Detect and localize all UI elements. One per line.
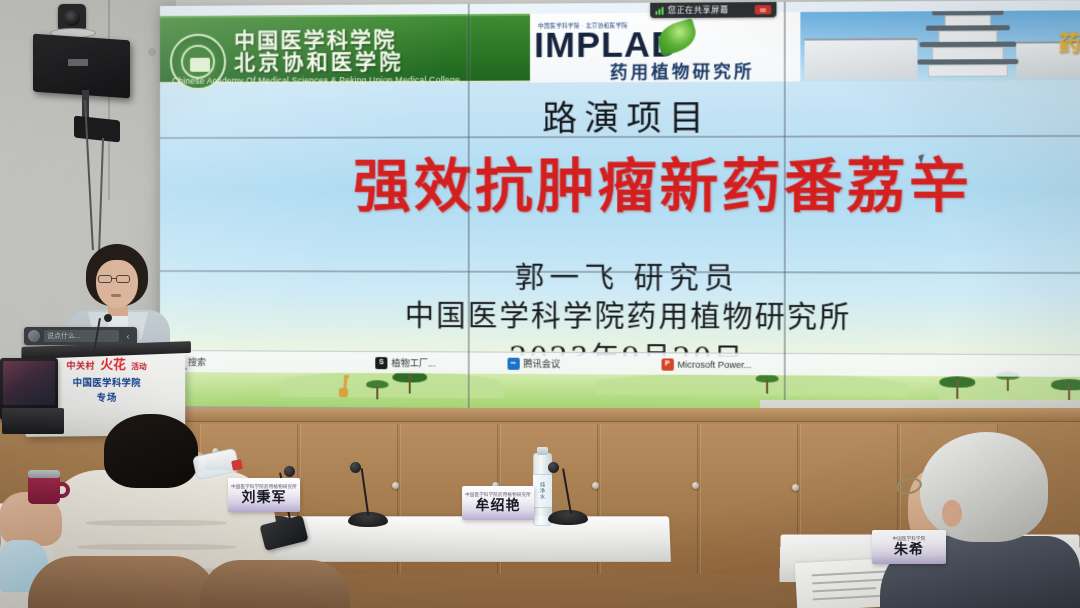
bottle-label: 纯净水: [533, 474, 552, 508]
podium-sign-prefix: 中关村: [66, 361, 94, 371]
screen-share-indicator[interactable]: 您正在共享屏幕: [650, 2, 776, 18]
signal-icon: [655, 6, 663, 14]
microphone-head: [284, 466, 295, 477]
podium-sign-suffix: 活动: [131, 362, 147, 371]
slide-title: 强效抗肿瘤新药番荔辛: [184, 139, 1080, 224]
slide-subtitle: 路演项目: [160, 88, 1080, 141]
leather-chair: [28, 556, 218, 608]
nameplate: 中国医学科学院 朱希: [872, 530, 946, 564]
slide-header-band: 中国医学科学院 北京协和医学院 Chinese Academy Of Medic…: [160, 14, 530, 84]
nameplate-name: 牟绍艳: [476, 498, 521, 514]
chat-input[interactable]: 说点什么...: [44, 330, 119, 342]
bottle-cap: [231, 459, 243, 471]
institution-line1: 中国医学科学院: [234, 28, 524, 52]
bottle-cap: [537, 447, 548, 455]
presenter-face: [96, 260, 138, 308]
powerpoint-slide: 中国医学科学院 北京协和医学院 Chinese Academy Of Medic…: [160, 0, 1080, 412]
microphone-head: [548, 462, 559, 473]
microphone-head: [350, 462, 361, 473]
cabinet-knob[interactable]: [692, 482, 699, 489]
display-bezel: [784, 2, 786, 410]
avatar: [28, 330, 40, 342]
taskbar-item-powerpoint[interactable]: P Microsoft Power...: [652, 354, 761, 375]
institution-line2: 北京协和医学院: [234, 50, 524, 74]
sogou-icon: S: [375, 357, 387, 369]
implad-logo-block: 中国医学科学院 · 北京协和医学院 IMPLAD 药用植物研究所: [530, 12, 800, 82]
nameplate-name: 朱希: [894, 542, 924, 558]
tencent-meeting-icon: ∞: [507, 357, 519, 369]
taskbar-label-tencent-meeting: 腾讯会议: [523, 357, 560, 370]
bottle-label-text: 纯净水: [539, 482, 546, 500]
taskbar-item-plant-factory[interactable]: S 植物工厂...: [366, 352, 445, 373]
glasses-icon: [98, 275, 112, 283]
cabinet-knob[interactable]: [792, 484, 799, 491]
attendee-right-hair: [920, 432, 1048, 542]
cabinet-knob[interactable]: [592, 482, 599, 489]
leather-chair: [200, 560, 350, 608]
video-wall-display[interactable]: 中国医学科学院 北京协和医学院 Chinese Academy Of Medic…: [160, 0, 1080, 412]
wall-seam: [108, 0, 110, 200]
wall-hook: [148, 48, 156, 56]
share-indicator-label: 您正在共享屏幕: [668, 4, 751, 16]
pagoda-photo: 药用: [800, 10, 1080, 81]
speaker-badge: [68, 59, 88, 66]
leaf-icon: [654, 18, 700, 56]
glasses-icon: [116, 275, 130, 283]
nameplate: 中国医学科学院药用植物研究所 刘秉军: [228, 478, 300, 512]
building-left: [805, 38, 918, 79]
presenter-mouth: [111, 294, 121, 297]
cabinet-knob[interactable]: [392, 482, 399, 489]
chevron-left-icon[interactable]: ‹: [123, 332, 133, 341]
display-bezel: [468, 4, 470, 408]
mug-lid: [28, 470, 60, 478]
speaker-base: [74, 116, 120, 143]
tencent-meeting-toolbar[interactable]: 说点什么... ‹: [24, 327, 137, 345]
nameplate: 中国医学科学院药用植物研究所 牟绍艳: [462, 486, 534, 520]
implad-subtitle: 药用植物研究所: [610, 57, 755, 83]
pagoda-calligraphy: 药用: [1059, 27, 1080, 58]
screenshot-root: 中国医学科学院 北京协和医学院 Chinese Academy Of Medic…: [0, 0, 1080, 608]
attendee-right-ear: [942, 500, 962, 527]
pagoda-building: [917, 10, 1018, 75]
attendee-front-hair: [104, 414, 198, 488]
institution-english: Chinese Academy Of Medical Sciences & Pe…: [172, 74, 526, 85]
taskbar-label-powerpoint: Microsoft Power...: [678, 359, 752, 370]
powerpoint-icon: P: [661, 358, 673, 370]
taskbar-label-search: 搜索: [188, 355, 206, 368]
monitor-base: [2, 408, 64, 434]
coffee-mug: [28, 476, 60, 504]
microphone-base: [548, 510, 588, 525]
wall-speaker: [33, 34, 130, 99]
taskbar-label-plant-factory: 植物工厂...: [392, 356, 436, 369]
nameplate-name: 刘秉军: [242, 490, 287, 506]
giraffe-graphic: [339, 375, 348, 397]
glasses-bridge: [112, 278, 116, 279]
podium-microphone-head: [104, 314, 112, 322]
podium-sign-highlight: 火花: [100, 358, 126, 373]
stop-share-button[interactable]: [755, 5, 772, 14]
logo-core: [190, 58, 210, 72]
monitor-screen: [3, 361, 55, 405]
slide-organization: 中国医学科学院药用植物研究所: [160, 292, 1080, 338]
camera-lens-icon: [64, 10, 80, 26]
taskbar-item-tencent-meeting[interactable]: ∞ 腾讯会议: [498, 353, 570, 374]
